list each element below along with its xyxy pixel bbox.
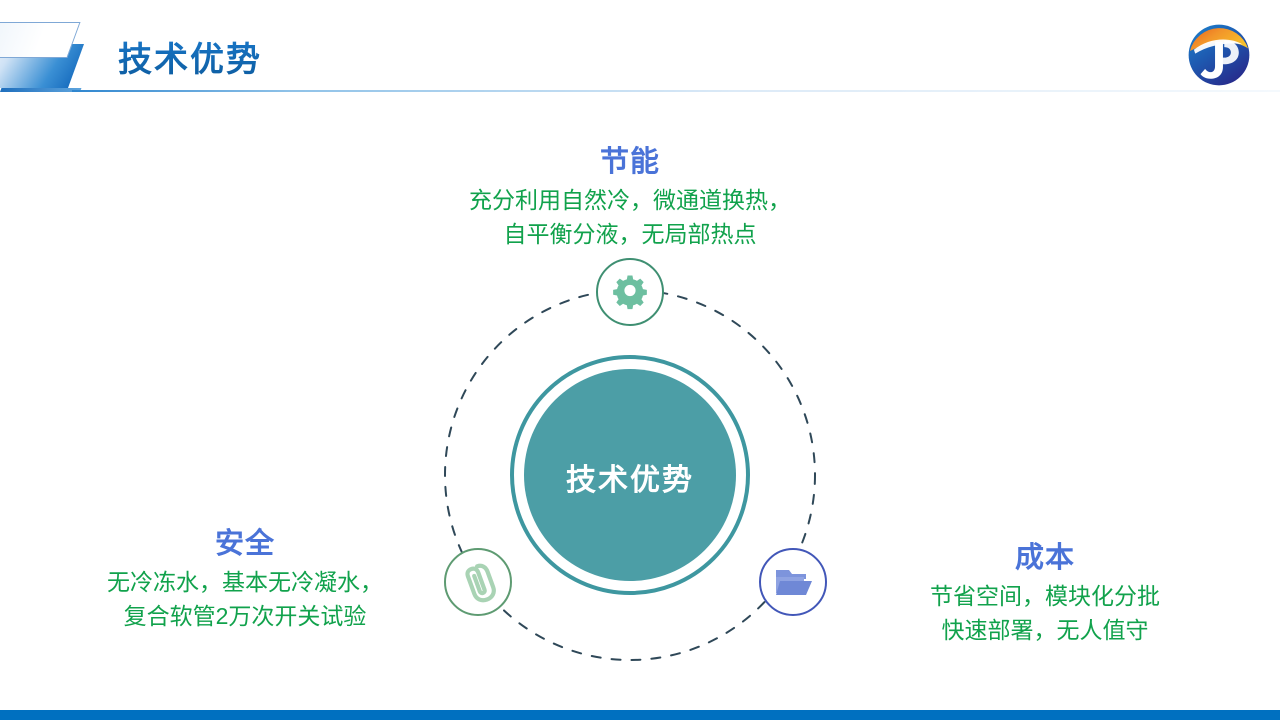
node-gear[interactable] (597, 259, 663, 325)
callout-cost: 成本 节省空间，模块化分批 快速部署，无人值守 (830, 534, 1260, 647)
callout-cost-body: 节省空间，模块化分批 快速部署，无人值守 (830, 580, 1260, 647)
footer-bar (0, 710, 1280, 720)
callout-safety-body: 无冷冻水，基本无冷凝水， 复合软管2万次开关试验 (30, 566, 460, 633)
callout-energy-body: 充分利用自然冷，微通道换热， 自平衡分液，无局部热点 (340, 184, 920, 251)
center-circle[interactable] (524, 369, 736, 581)
node-folder[interactable] (760, 549, 826, 615)
callout-energy: 节能 充分利用自然冷，微通道换热， 自平衡分液，无局部热点 (340, 138, 920, 251)
gear-icon (613, 275, 647, 309)
callout-safety: 安全 无冷冻水，基本无冷凝水， 复合软管2万次开关试验 (30, 520, 460, 633)
slide-canvas: 技术优势 (0, 0, 1280, 720)
callout-energy-title: 节能 (340, 138, 920, 180)
callout-safety-title: 安全 (30, 520, 460, 562)
callout-cost-title: 成本 (830, 534, 1260, 576)
